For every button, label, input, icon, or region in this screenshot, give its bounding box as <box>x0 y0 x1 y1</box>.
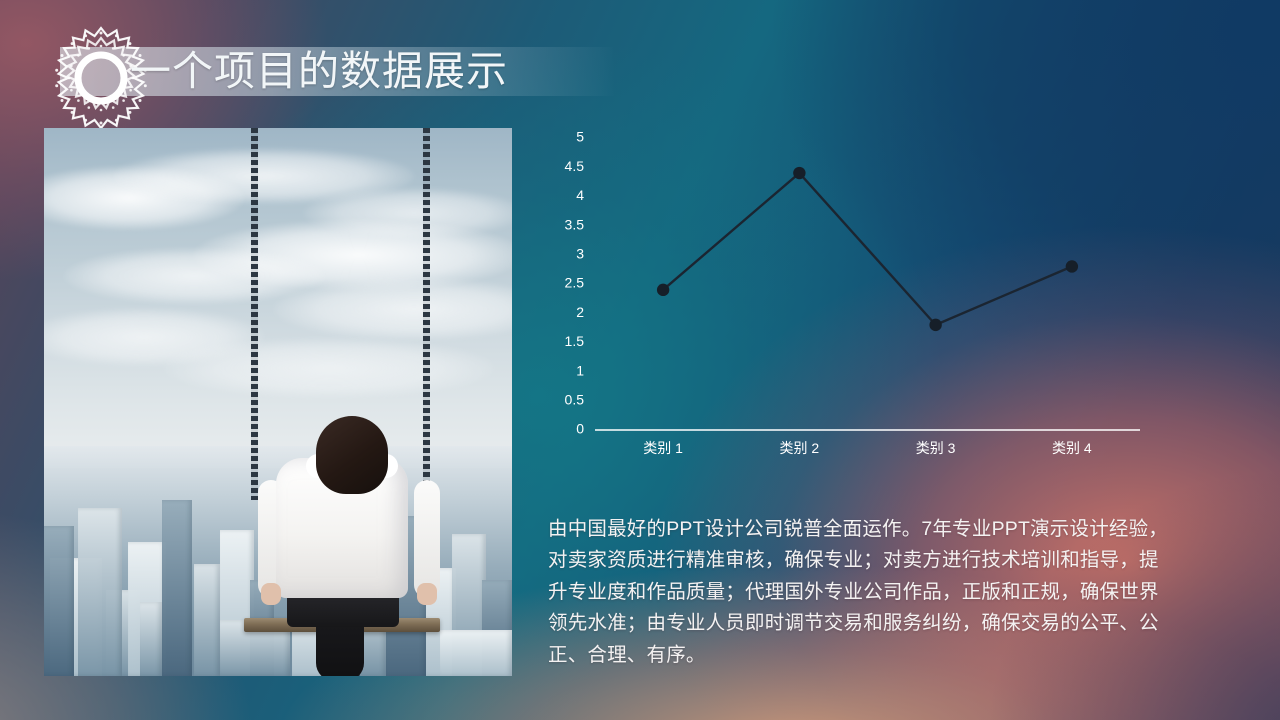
line-chart: 00.511.522.533.544.55 类别 1类别 2类别 3类别 4 <box>540 126 1160 456</box>
y-axis-tick-label: 1.5 <box>565 333 585 349</box>
y-axis-tick-label: 1 <box>576 362 584 378</box>
body-paragraph: 由中国最好的PPT设计公司锐普全面运作。7年专业PPT演示设计经验，对卖家资质进… <box>548 514 1174 672</box>
x-axis-tick-label: 类别 4 <box>1052 440 1092 456</box>
chart-plot-area: 00.511.522.533.544.55 类别 1类别 2类别 3类别 4 <box>540 126 1160 456</box>
y-axis-tick-label: 3.5 <box>565 216 585 232</box>
series-line <box>663 173 1072 325</box>
person-hand <box>261 583 281 605</box>
swing-chain-left <box>251 128 258 500</box>
page-title: 一个项目的数据展示 <box>130 44 508 98</box>
y-axis-tick-label: 0 <box>576 421 584 437</box>
person-head <box>316 416 388 494</box>
person-legs <box>316 625 364 676</box>
x-axis-tick-label: 类别 1 <box>643 440 683 456</box>
x-axis-tick-label: 类别 3 <box>916 440 956 456</box>
slide-canvas: 一个项目的数据展示 <box>0 0 1280 720</box>
y-axis-tick-label: 0.5 <box>565 392 585 408</box>
swing-chain-right <box>423 128 430 500</box>
y-axis-tick-label: 2.5 <box>565 275 585 291</box>
y-axis-tick-label: 5 <box>576 129 584 145</box>
person-hand <box>417 583 437 605</box>
y-axis-tick-label: 4 <box>576 187 584 203</box>
y-axis-tick-label: 4.5 <box>565 158 585 174</box>
data-point-marker[interactable] <box>657 284 669 296</box>
data-point-marker[interactable] <box>929 319 941 331</box>
y-axis-tick-labels: 00.511.522.533.544.55 <box>565 129 585 437</box>
x-axis-tick-label: 类别 2 <box>780 440 820 456</box>
x-axis-tick-labels: 类别 1类别 2类别 3类别 4 <box>643 440 1092 456</box>
y-axis-tick-label: 2 <box>576 304 584 320</box>
swing-photo <box>44 128 512 676</box>
data-point-marker[interactable] <box>1066 260 1078 272</box>
y-axis-tick-label: 3 <box>576 246 584 262</box>
person-arm <box>414 480 440 598</box>
data-point-marker[interactable] <box>793 167 805 179</box>
photo-cloud <box>164 338 494 398</box>
